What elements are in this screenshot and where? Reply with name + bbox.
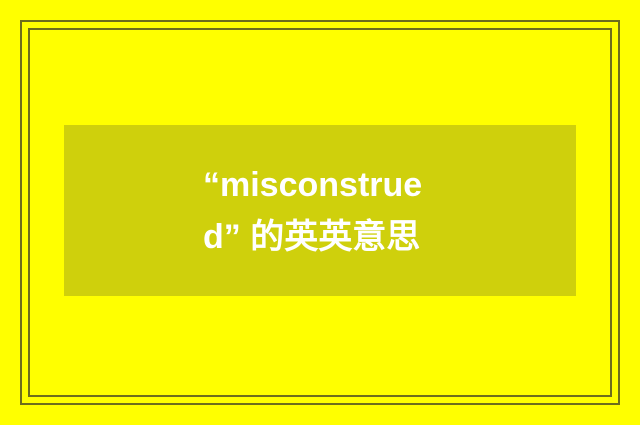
page-title: “misconstrued” 的英英意思 [203, 159, 453, 263]
title-card: “misconstrued” 的英英意思 [64, 125, 576, 296]
page-canvas: “misconstrued” 的英英意思 [0, 0, 640, 425]
